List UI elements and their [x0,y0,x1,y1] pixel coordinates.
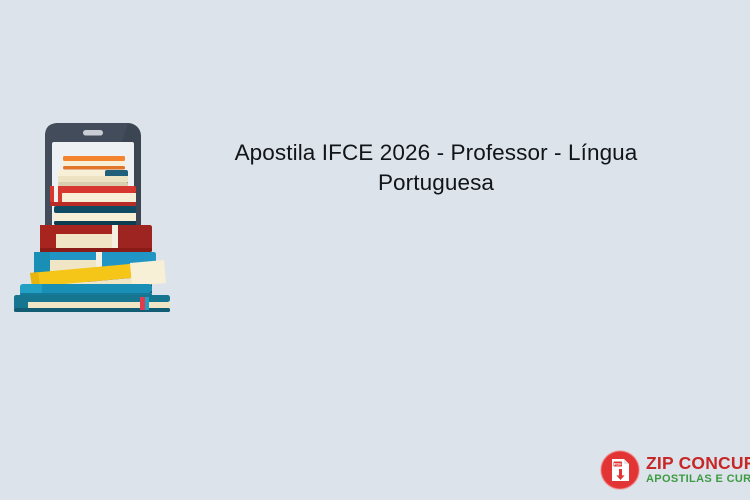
book-darkred-large [40,225,152,252]
page-title: Apostila IFCE 2026 - Professor - Língua … [196,138,676,198]
brand-tagline: APOSTILAS E CURSOS [646,473,750,486]
brand-wordmark: ZIP CONCURSOS APOSTILAS E CURSOS [646,454,750,486]
brand-logo[interactable]: PDF ZIP CONCURSOS APOSTILAS E CURSOS [600,449,738,491]
pdf-download-icon-svg: PDF [600,450,640,490]
books-illustration-base [12,253,180,313]
book-red-upper [50,186,136,206]
book-cream-teal [58,170,128,186]
svg-text:PDF: PDF [614,462,623,467]
book-orange-top [63,156,125,170]
books-base-svg [12,253,180,313]
book-navy-upper [54,206,136,225]
product-banner: Apostila IFCE 2026 - Professor - Língua … [0,0,750,500]
brand-name: ZIP CONCURSOS [646,454,750,473]
book-teal-bottom [14,295,170,312]
pdf-download-icon: PDF [600,450,640,490]
